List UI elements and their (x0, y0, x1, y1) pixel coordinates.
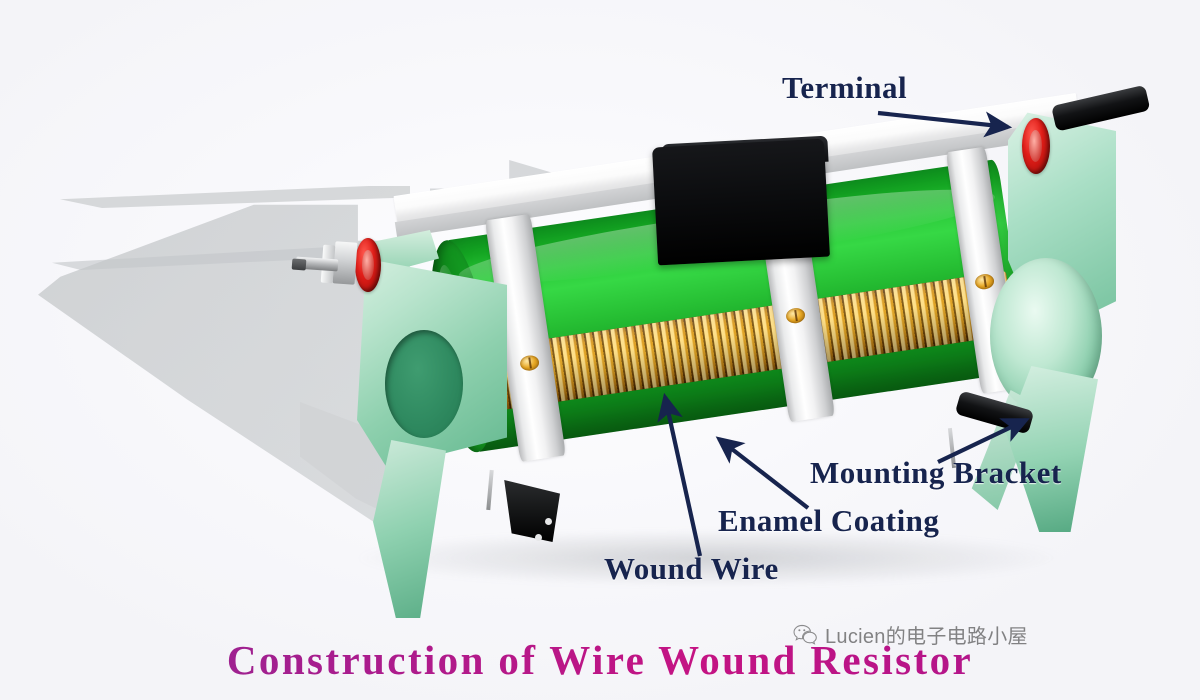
terminal-bolt-tip (292, 259, 307, 271)
wechat-icon (792, 622, 818, 648)
lug-hole-upper (545, 518, 552, 525)
terminal-ring-right-core (1029, 130, 1042, 162)
lug-hole-lower (535, 534, 542, 541)
watermark-text: Lucien的电子电路小屋 (825, 620, 1028, 649)
callout-label-enamel-coating: Enamel Coating (718, 503, 939, 539)
callout-label-mounting-bracket: Mounting Bracket (810, 455, 1062, 491)
tap-block (652, 139, 830, 266)
terminal-ring-left-core (362, 250, 374, 280)
watermark: Lucien的电子电路小屋 (792, 620, 1028, 649)
callout-label-terminal: Terminal (782, 70, 907, 106)
mounting-bracket-left-bore (385, 330, 463, 438)
ghost-rail-upper (60, 186, 410, 208)
illustration-canvas: Terminal Mounting Bracket Enamel Coating… (0, 0, 1200, 700)
lead-wire-top-right (1051, 85, 1150, 132)
callout-label-wound-wire: Wound Wire (604, 551, 779, 587)
